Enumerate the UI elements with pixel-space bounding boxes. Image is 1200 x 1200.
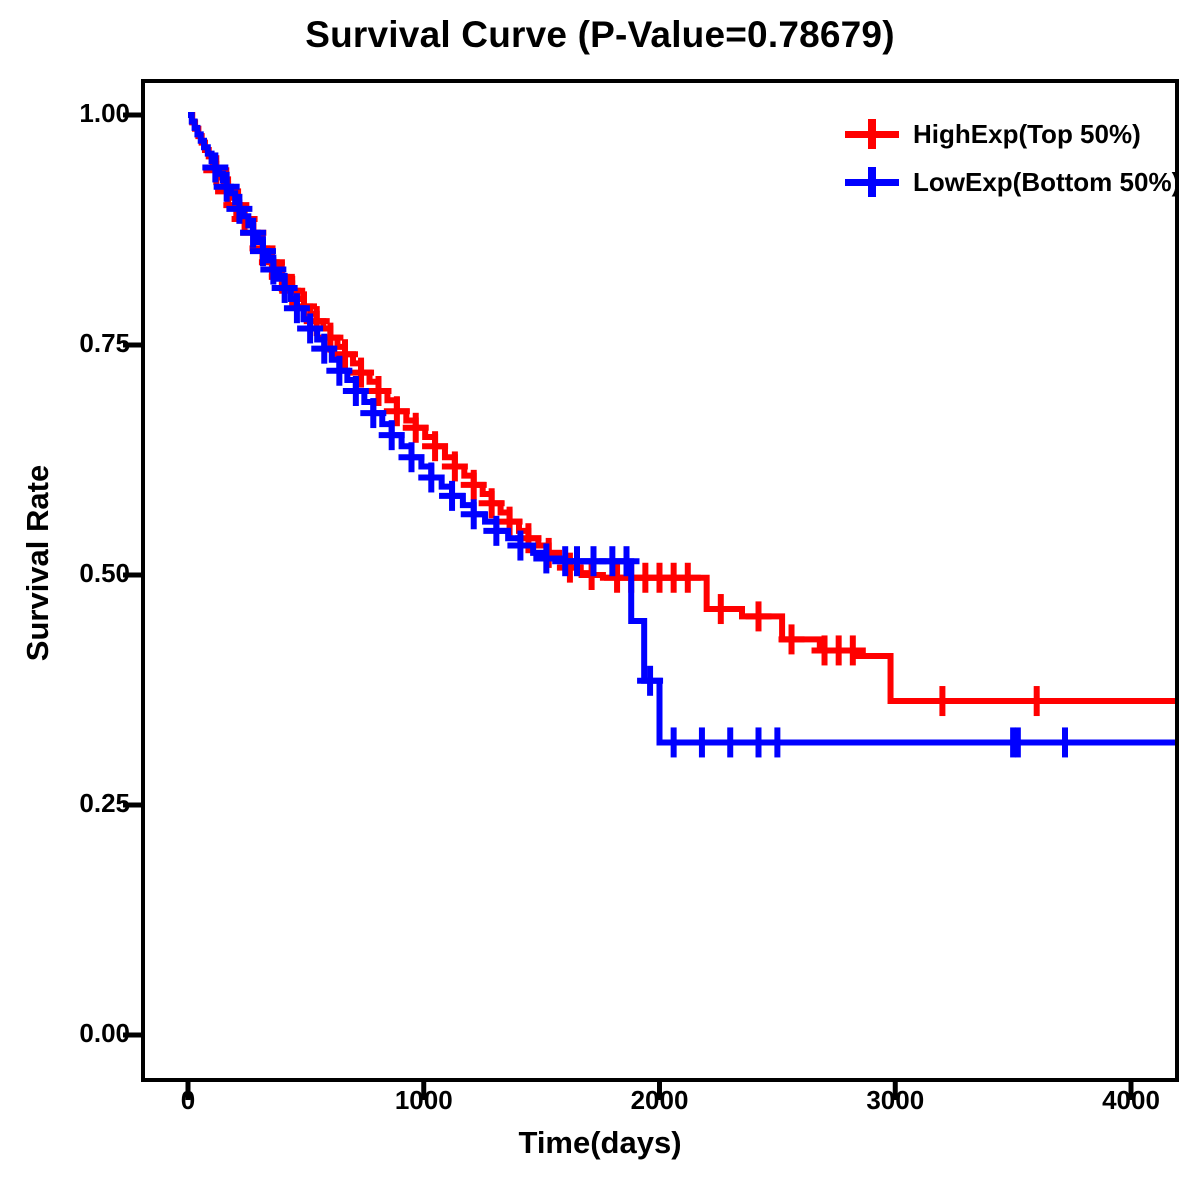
chart-legend: HighExp(Top 50%)LowExp(Bottom 50%) (845, 110, 1180, 206)
legend-label: LowExp(Bottom 50%) (913, 167, 1180, 198)
x-tick-label-1: 1000 (354, 1085, 494, 1116)
plus-marker (845, 167, 899, 197)
y-tick-label-1: 0.25 (20, 788, 130, 819)
legend-item-lowexp[interactable]: LowExp(Bottom 50%) (845, 158, 1180, 206)
x-axis-tick-labels: 01000200030004000 (0, 1085, 1200, 1135)
x-tick-label-2: 2000 (590, 1085, 730, 1116)
y-tick-label-2: 0.50 (20, 558, 130, 589)
legend-item-highexp[interactable]: HighExp(Top 50%) (845, 110, 1180, 158)
y-tick-label-4: 1.00 (20, 98, 130, 129)
y-tick-label-3: 0.75 (20, 328, 130, 359)
legend-label: HighExp(Top 50%) (913, 119, 1141, 150)
plus-marker (845, 119, 899, 149)
x-tick-label-3: 3000 (825, 1085, 965, 1116)
y-axis-tick-labels: 0.000.250.500.751.00 (20, 0, 130, 1200)
survival-step-line (188, 115, 1190, 742)
y-tick-label-0: 0.00 (20, 1018, 130, 1049)
series-highexp (188, 115, 1178, 1035)
x-tick-label-4: 4000 (1061, 1085, 1200, 1116)
x-tick-label-0: 0 (118, 1085, 258, 1116)
survival-curve-figure: Survival Curve (P-Value=0.78679) Surviva… (0, 0, 1200, 1200)
series-lowexp (188, 115, 1190, 757)
